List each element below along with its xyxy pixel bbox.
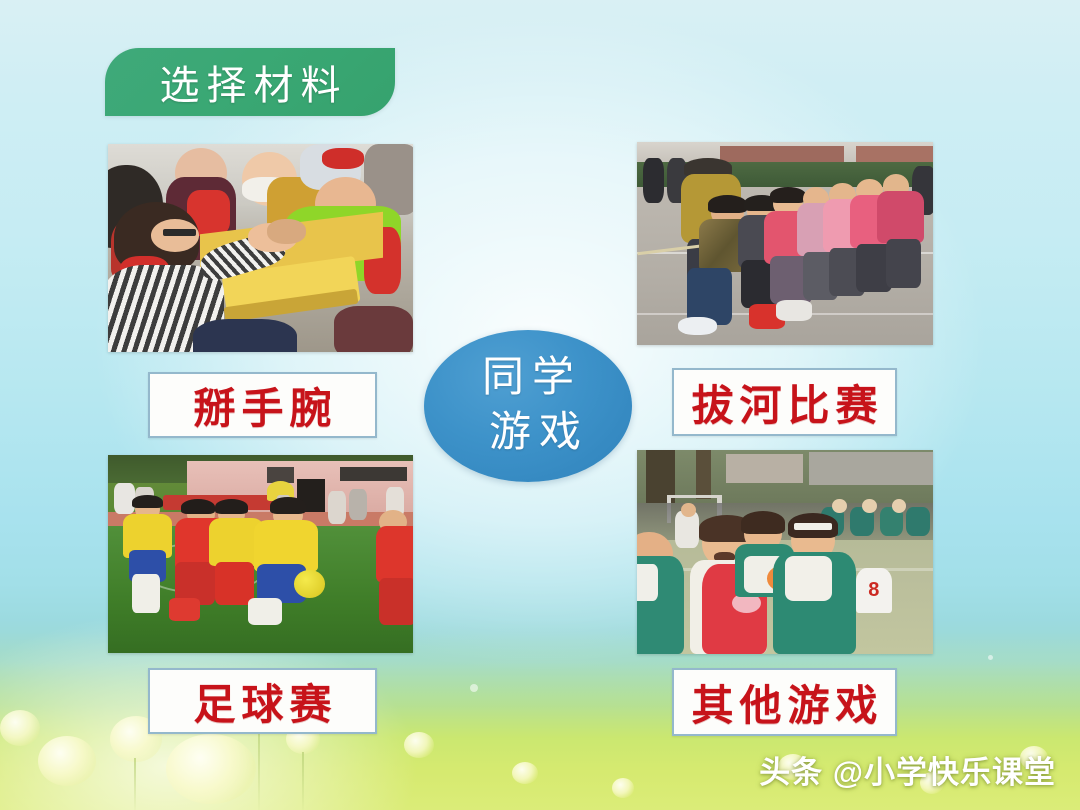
photo-arm-wrestling-scene bbox=[108, 144, 413, 352]
caption-arm-wrestling-label: 掰手腕 bbox=[187, 375, 337, 436]
caption-other-games-label: 其他游戏 bbox=[685, 672, 883, 733]
cone-number-label: 8 bbox=[856, 572, 892, 609]
caption-soccer-label: 足球赛 bbox=[187, 671, 337, 732]
title-banner-label: 选择材料 bbox=[153, 53, 348, 111]
sparkle bbox=[470, 684, 478, 692]
center-badge-line-1: 同学 bbox=[474, 351, 582, 406]
photo-other-games: 8 bbox=[637, 450, 933, 654]
dandelion-stem bbox=[134, 758, 136, 810]
dandelion-stem bbox=[258, 726, 260, 810]
photo-tug-of-war bbox=[637, 142, 933, 345]
caption-tug-of-war: 拔河比赛 bbox=[672, 368, 897, 436]
caption-other-games: 其他游戏 bbox=[672, 668, 897, 736]
photo-soccer-scene bbox=[108, 455, 413, 653]
photo-soccer bbox=[108, 455, 413, 653]
dandelion-puff bbox=[512, 762, 538, 784]
dandelion-stem bbox=[302, 752, 304, 810]
photo-other-games-scene: 8 bbox=[637, 450, 933, 654]
sparkle bbox=[988, 655, 993, 660]
dandelion-puff bbox=[612, 778, 634, 798]
slide-canvas: 选择材料 bbox=[0, 0, 1080, 810]
center-badge: 同学 游戏 bbox=[424, 330, 632, 482]
dandelion-puff bbox=[166, 734, 256, 804]
caption-tug-of-war-label: 拔河比赛 bbox=[685, 372, 883, 433]
dandelion-puff bbox=[38, 736, 96, 786]
dandelion-puff bbox=[404, 732, 434, 758]
watermark: 头条 @小学快乐课堂 bbox=[759, 747, 1056, 792]
photo-arm-wrestling bbox=[108, 144, 413, 352]
dandelion-puff bbox=[0, 710, 40, 746]
title-banner: 选择材料 bbox=[105, 48, 395, 116]
caption-soccer: 足球赛 bbox=[148, 668, 377, 734]
center-badge-line-2: 游戏 bbox=[481, 406, 589, 461]
photo-tug-of-war-scene bbox=[637, 142, 933, 345]
caption-arm-wrestling: 掰手腕 bbox=[148, 372, 377, 438]
